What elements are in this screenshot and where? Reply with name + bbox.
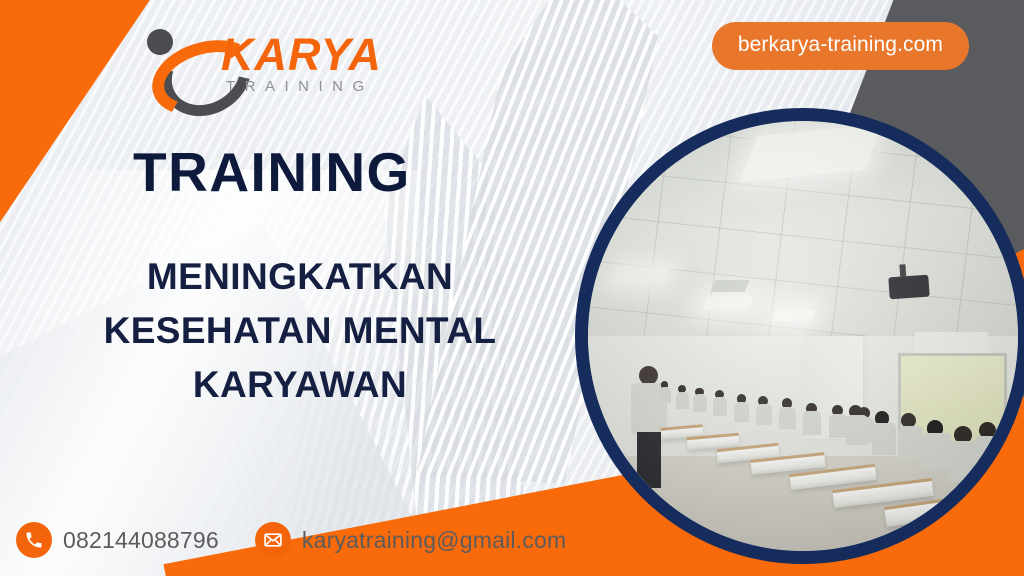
contact-phone[interactable]: 082144088796	[16, 522, 219, 558]
phone-number: 082144088796	[63, 527, 219, 554]
contact-bar: 082144088796 karyatraining@gmail.com	[16, 522, 566, 558]
phone-icon	[16, 522, 52, 558]
contact-email[interactable]: karyatraining@gmail.com	[255, 522, 566, 558]
training-photo-inner	[588, 121, 1018, 551]
brand-logo: KARYA TRAINING	[133, 22, 373, 100]
logo-dot-icon	[147, 29, 173, 55]
training-flyer: KARYA TRAINING berkarya-training.com TRA…	[0, 0, 1024, 576]
training-photo	[575, 108, 1024, 564]
logo-wordmark: KARYA	[221, 32, 382, 77]
photo-vignette	[588, 121, 1018, 551]
email-address: karyatraining@gmail.com	[302, 527, 566, 554]
page-title: TRAINING	[133, 145, 411, 200]
website-url-badge[interactable]: berkarya-training.com	[712, 22, 969, 70]
subtitle-line-2: KESEHATAN MENTAL	[30, 304, 570, 358]
subtitle-line-1: MENINGKATKAN	[30, 250, 570, 304]
logo-mark-icon	[133, 22, 229, 92]
subtitle-block: MENINGKATKAN KESEHATAN MENTAL KARYAWAN	[30, 250, 570, 412]
email-icon	[255, 522, 291, 558]
logo-subtitle: TRAINING	[226, 79, 374, 94]
subtitle-line-3: KARYAWAN	[30, 358, 570, 412]
